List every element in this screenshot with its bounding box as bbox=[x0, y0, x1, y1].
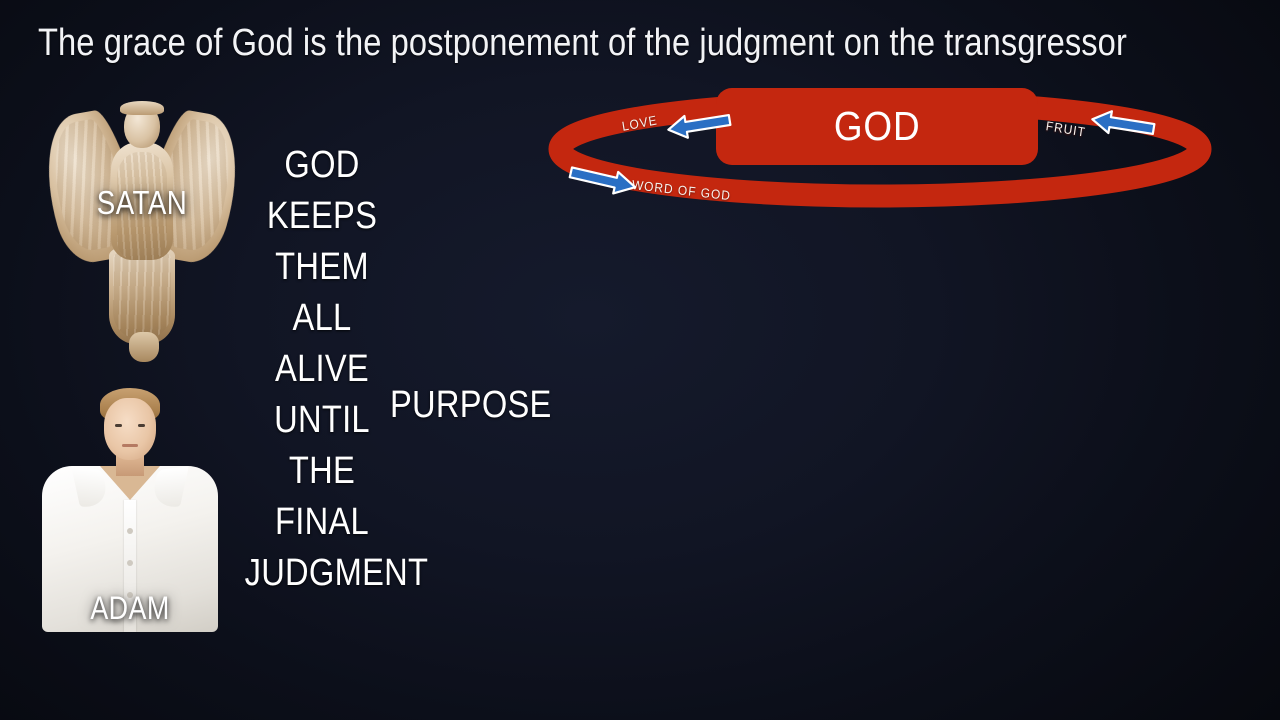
stack-line-3: THEM bbox=[245, 242, 400, 293]
stack-line-2: KEEPS bbox=[245, 191, 400, 242]
man-portrait-icon bbox=[36, 380, 224, 632]
stack-line-8: FINAL bbox=[245, 497, 400, 548]
stack-line-4: ALL bbox=[245, 293, 400, 344]
page-title: The grace of God is the postponement of … bbox=[38, 22, 1087, 65]
stack-line-7: THE bbox=[245, 446, 400, 497]
stacked-statement: GOD KEEPS THEM ALL ALIVE UNTIL THE FINAL… bbox=[232, 140, 412, 599]
figure-satan: SATAN bbox=[44, 96, 240, 364]
god-box: GOD bbox=[716, 88, 1038, 165]
arrow-left-icon-love bbox=[662, 112, 734, 138]
arrow-right-icon-word bbox=[566, 166, 642, 194]
cycle-diagram: GOD LOVE FRUIT WORD OF GOD bbox=[530, 78, 1230, 218]
stack-line-1: GOD bbox=[245, 140, 400, 191]
stack-line-6: UNTIL bbox=[245, 395, 400, 446]
stack-line-9: JUDGMENT bbox=[245, 548, 400, 599]
stack-line-5: ALIVE bbox=[245, 344, 400, 395]
god-box-label: GOD bbox=[834, 103, 921, 150]
presentation-slide: The grace of God is the postponement of … bbox=[0, 0, 1280, 720]
purpose-label: PURPOSE bbox=[390, 384, 552, 427]
angel-statue-icon bbox=[44, 96, 240, 364]
figure-adam: ADAM bbox=[36, 380, 224, 632]
arrow-left-icon-fruit bbox=[1086, 110, 1158, 138]
